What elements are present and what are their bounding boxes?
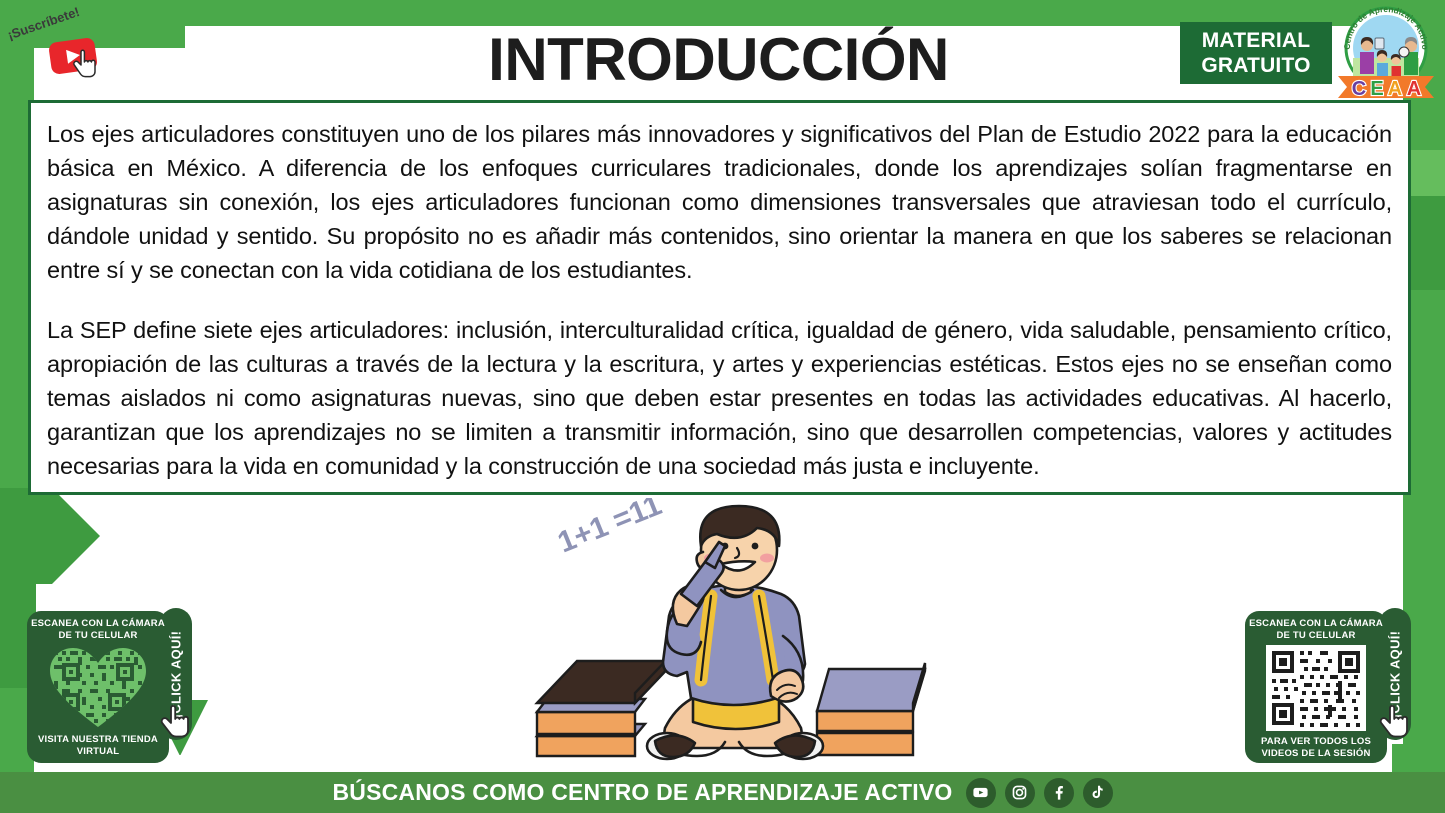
qr-code-heart-icon <box>46 645 150 729</box>
logo-letter-c: C <box>1352 78 1366 100</box>
logo-letter-a2: A <box>1407 78 1421 100</box>
footer-bar: BÚSCANOS COMO CENTRO DE APRENDIZAJE ACTI… <box>0 772 1445 813</box>
boy-with-books-illustration: 1+1 =11 <box>515 498 935 773</box>
qr-card-videos[interactable]: ESCANEA CON LA CÁMARA DE TU CELULAR <box>1245 611 1387 763</box>
paragraph-2: La SEP define siete ejes articuladores: … <box>47 313 1392 483</box>
paragraph-1: Los ejes articuladores constituyen uno d… <box>47 117 1392 287</box>
youtube-icon[interactable] <box>966 778 996 808</box>
footer-text: BÚSCANOS COMO CENTRO DE APRENDIZAJE ACTI… <box>332 779 952 806</box>
badge-line-2: GRATUITO <box>1201 53 1310 78</box>
instagram-icon[interactable] <box>1005 778 1035 808</box>
logo-letter-e: E <box>1370 78 1383 100</box>
qr-card-store[interactable]: ESCANEA CON LA CÁMARA DE TU CELULAR <box>27 611 169 763</box>
book-stack-right <box>817 663 925 755</box>
material-gratuito-badge: MATERIAL GRATUITO <box>1180 22 1332 84</box>
tiktok-icon[interactable] <box>1083 778 1113 808</box>
qr-left-caption-top: ESCANEA CON LA CÁMARA DE TU CELULAR <box>27 618 169 641</box>
qr-right-caption-top: ESCANEA CON LA CÁMARA DE TU CELULAR <box>1245 618 1387 641</box>
badge-line-1: MATERIAL <box>1202 28 1311 53</box>
social-links <box>966 778 1113 808</box>
right-tab-arrow-decoration <box>1392 744 1445 774</box>
pointer-hand-icon <box>72 48 98 78</box>
subscribe-label: ¡Suscríbete! <box>6 4 82 43</box>
qr-left-caption-bottom: VISITA NUESTRA TIENDA VIRTUAL <box>27 734 169 757</box>
qr-right-caption-bottom: PARA VER TODOS LOS VIDEOS DE LA SESIÓN <box>1245 736 1387 759</box>
slide-canvas: INTRODUCCIÓN ¡Suscríbete! MATERIAL GRATU… <box>0 0 1445 813</box>
facebook-icon[interactable] <box>1044 778 1074 808</box>
pointer-hand-icon-right <box>1377 702 1417 742</box>
boy-figure <box>647 506 823 759</box>
subscribe-sticker[interactable]: ¡Suscríbete! <box>6 8 136 86</box>
introduction-text-box: Los ejes articuladores constituyen uno d… <box>28 100 1411 495</box>
logo-letter-a1: A <box>1388 78 1402 100</box>
pointer-hand-icon-left <box>158 702 198 742</box>
qr-code-square-icon <box>1266 645 1366 731</box>
equation-label: 1+1 =11 <box>553 498 666 559</box>
ceaa-logo: Centro de Aprendizaje Activo C E A A <box>1332 2 1440 102</box>
